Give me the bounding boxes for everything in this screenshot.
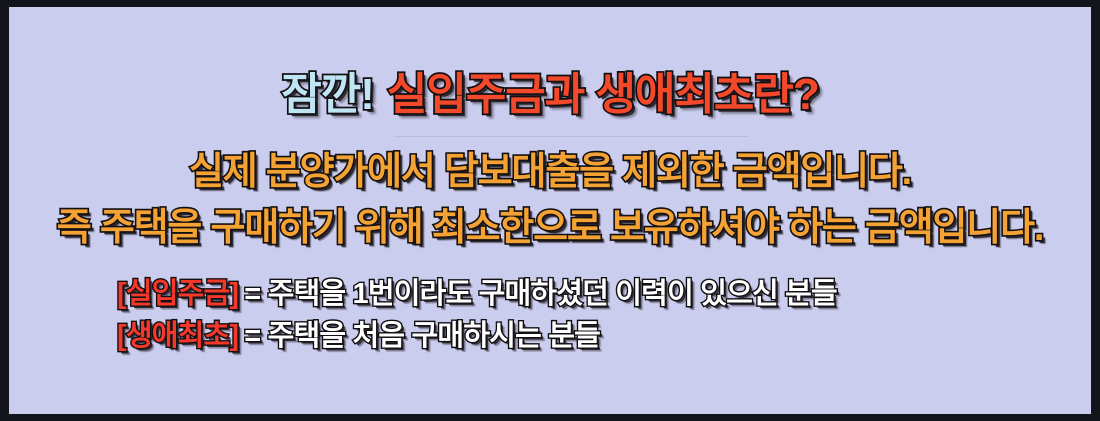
definition-text-saengaechoecho: = 주택을 처음 구매하시는 분들 [244,320,600,352]
info-slide: 잠깐!실입주금과 생애최초란? 실제 분양가에서 담보대출을 제외한 금액입니다… [0,0,1100,421]
definition-tag-saengaechoecho: [생애최초] [117,320,238,352]
definition-tag-silipjugeum: [실입주금] [117,278,238,310]
definition-text-silipjugeum: = 주택을 1번이라도 구매하셨던 이력이 있으신 분들 [244,278,837,310]
title-highlight: 잠깐! [281,73,374,117]
definition-row-1: [실입주금]= 주택을 1번이라도 구매하셨던 이력이 있으신 분들 [117,280,837,309]
page-title: 잠깐!실입주금과 생애최초란? [9,73,1091,117]
title-question: 실입주금과 생애최초란? [387,73,819,117]
body-line-2: 즉 주택을 구매하기 위해 최소한으로 보유하셔야 하는 금액입니다. [9,209,1091,247]
body-line-1: 실제 분양가에서 담보대출을 제외한 금액입니다. [9,153,1091,191]
slide-canvas: 잠깐!실입주금과 생애최초란? 실제 분양가에서 담보대출을 제외한 금액입니다… [9,7,1091,414]
definition-row-2: [생애최초]= 주택을 처음 구매하시는 분들 [117,322,600,351]
title-divider [394,136,749,137]
